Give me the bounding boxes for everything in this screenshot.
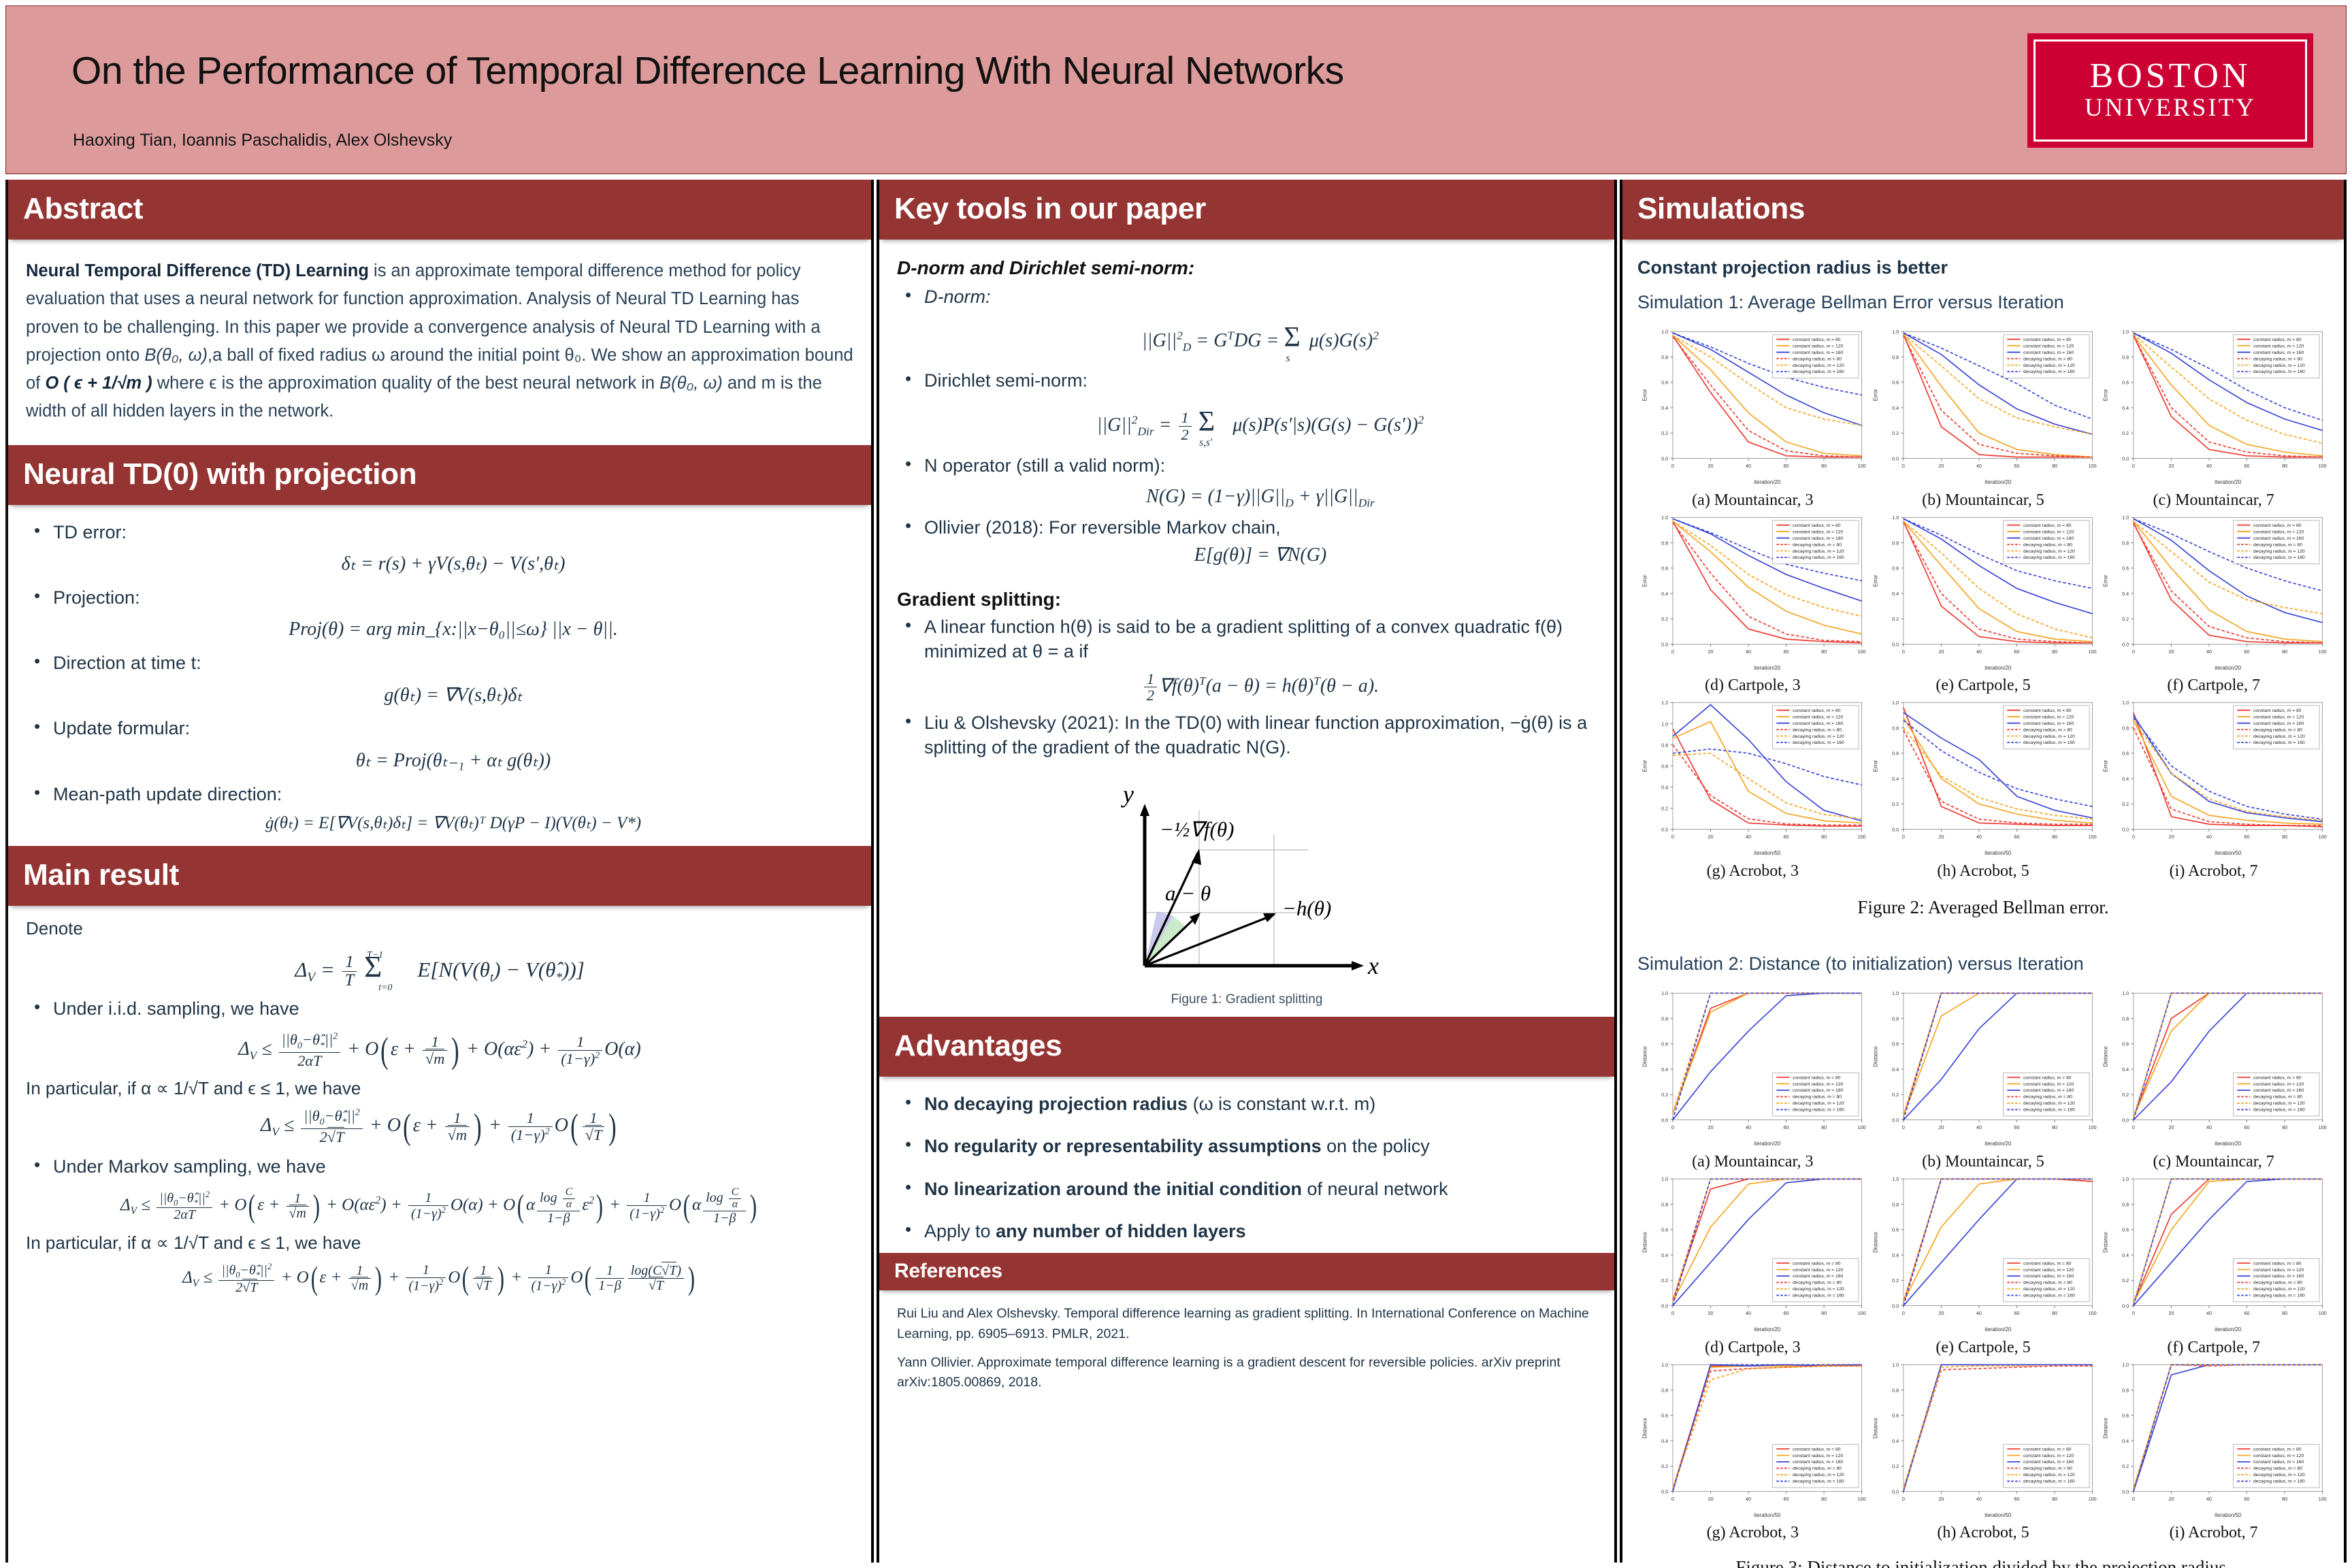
svg-text:0.4: 0.4 <box>2122 405 2129 411</box>
svg-text:80: 80 <box>2052 463 2057 469</box>
svg-text:iteration/20: iteration/20 <box>2215 479 2242 485</box>
simulation-chart: 0.00.20.40.60.81.0020406080100iteration/… <box>1868 324 2099 489</box>
svg-text:0.4: 0.4 <box>2122 1066 2129 1073</box>
svg-text:100: 100 <box>2319 834 2327 840</box>
svg-text:decaying radius, m = 160: decaying radius, m = 160 <box>2023 1479 2075 1484</box>
svg-text:0: 0 <box>1671 1310 1674 1316</box>
svg-text:0.8: 0.8 <box>1892 725 1899 732</box>
d-norm-label: D-norm: <box>924 287 991 307</box>
ollivier-equation: E[g(θ)] = ∇N(G) <box>924 542 1597 568</box>
svg-text:0.2: 0.2 <box>1661 1277 1668 1284</box>
axis-label-x: x <box>1367 952 1379 979</box>
svg-text:decaying radius, m = 120: decaying radius, m = 120 <box>1793 1473 1844 1477</box>
svg-text:0.6: 0.6 <box>1661 764 1668 770</box>
svg-text:80: 80 <box>1821 1310 1827 1316</box>
svg-text:constant radius, m = 80: constant radius, m = 80 <box>2253 708 2302 713</box>
chart-cell: 0.00.20.40.60.81.0020406080100iteration/… <box>1637 1171 1868 1357</box>
svg-text:constant radius, m = 120: constant radius, m = 120 <box>2023 344 2074 348</box>
svg-text:constant radius, m = 160: constant radius, m = 160 <box>2023 721 2074 726</box>
svg-text:60: 60 <box>2244 1310 2250 1316</box>
projection-label: Projection: <box>53 587 140 608</box>
svg-text:Distance: Distance <box>1642 1231 1648 1252</box>
svg-text:iteration/20: iteration/20 <box>1754 1141 1781 1147</box>
svg-text:Error: Error <box>2103 574 2109 587</box>
simulation-chart: 0.00.20.40.60.81.0020406080100iteration/… <box>1868 1171 2099 1337</box>
reference-item: Rui Liu and Alex Olshevsky. Temporal dif… <box>897 1304 1597 1344</box>
list-item: Under i.i.d. sampling, we have <box>26 996 853 1021</box>
svg-text:constant radius, m = 80: constant radius, m = 80 <box>1793 1261 1841 1266</box>
list-item: TD error: δₜ = r(s) + γV(s,θₜ) − V(s′,θₜ… <box>26 520 853 577</box>
svg-text:1.0: 1.0 <box>1892 1362 1899 1368</box>
svg-text:iteration/20: iteration/20 <box>2215 1141 2242 1147</box>
svg-text:constant radius, m = 160: constant radius, m = 160 <box>1793 1088 1844 1093</box>
svg-text:20: 20 <box>1938 834 1944 840</box>
svg-text:40: 40 <box>1976 463 1982 469</box>
simulations-body: Constant projection radius is better Sim… <box>1622 240 2344 1568</box>
svg-text:60: 60 <box>1784 649 1789 655</box>
svg-text:1.0: 1.0 <box>1892 329 1899 335</box>
svg-text:iteration/50: iteration/50 <box>1984 850 2012 856</box>
svg-text:60: 60 <box>1784 1496 1789 1502</box>
svg-text:constant radius, m = 160: constant radius, m = 160 <box>2023 536 2074 541</box>
ollivier-label: Ollivier (2018): For reversible Markov c… <box>924 517 1281 538</box>
svg-text:0.2: 0.2 <box>1661 616 1668 622</box>
svg-text:iteration/20: iteration/20 <box>2215 1326 2242 1333</box>
svg-text:constant radius, m = 120: constant radius, m = 120 <box>1793 715 1844 720</box>
chart-cell: 0.00.20.40.60.81.0020406080100iteration/… <box>2098 1171 2329 1357</box>
svg-text:0: 0 <box>2132 1124 2135 1130</box>
figure-3-grid: 0.00.20.40.60.81.0020406080100iteration/… <box>1637 985 2329 1542</box>
svg-text:decaying radius, m = 160: decaying radius, m = 160 <box>1793 1293 1844 1298</box>
svg-text:40: 40 <box>2206 649 2212 655</box>
svg-text:Error: Error <box>1642 574 1648 587</box>
iid-sampling-label: Under i.i.d. sampling, we have <box>53 998 299 1019</box>
list-item: Update formular: θₜ = Proj(θₜ₋₁ + αₜ g(θ… <box>26 716 853 773</box>
chart-cell: 0.00.20.40.60.81.0020406080100iteration/… <box>1868 1171 2099 1357</box>
subheading-d-norm: D-norm and Dirichlet semi-norm: <box>897 257 1597 279</box>
svg-text:decaying radius, m = 80: decaying radius, m = 80 <box>2253 728 2302 733</box>
dirichlet-equation: ||G||2Dir = 12 Σs,s′ μ(s)P(s′|s)(G(s) − … <box>924 403 1597 443</box>
abstract-paragraph: Neural Temporal Difference (TD) Learning… <box>26 257 853 426</box>
svg-text:1.0: 1.0 <box>1661 1176 1668 1182</box>
svg-text:constant radius, m = 160: constant radius, m = 160 <box>1793 536 1844 541</box>
svg-text:decaying radius, m = 80: decaying radius, m = 80 <box>2023 1281 2072 1286</box>
svg-text:80: 80 <box>2052 1124 2057 1130</box>
svg-text:80: 80 <box>1821 649 1827 655</box>
list-item: Projection: Proj(θ) = arg min_{x:||x−θ₀|… <box>26 585 853 642</box>
svg-text:0.6: 0.6 <box>1661 380 1668 386</box>
svg-text:constant radius, m = 120: constant radius, m = 120 <box>1793 529 1844 534</box>
svg-text:0.8: 0.8 <box>1661 354 1668 360</box>
chart-cell: 0.00.20.40.60.81.0020406080100iteration/… <box>1637 985 1868 1171</box>
mean-path-label: Mean-path update direction: <box>53 784 282 804</box>
svg-text:decaying radius, m = 160: decaying radius, m = 160 <box>2253 1479 2305 1484</box>
svg-text:0.4: 0.4 <box>2122 1437 2129 1443</box>
n-operator-label: N operator (still a valid norm): <box>924 455 1165 476</box>
svg-text:0.6: 0.6 <box>1661 1412 1668 1418</box>
svg-text:0: 0 <box>2132 834 2135 840</box>
svg-text:20: 20 <box>2169 649 2174 655</box>
svg-text:0.6: 0.6 <box>1892 1412 1899 1418</box>
svg-text:0.0: 0.0 <box>1661 455 1668 461</box>
svg-text:constant radius, m = 120: constant radius, m = 120 <box>2253 1453 2304 1458</box>
list-item: A linear function h(θ) is said to be a g… <box>897 615 1597 704</box>
svg-text:constant radius, m = 160: constant radius, m = 160 <box>2023 1274 2074 1279</box>
svg-text:constant radius, m = 80: constant radius, m = 80 <box>2023 1261 2072 1266</box>
svg-text:decaying radius, m = 80: decaying radius, m = 80 <box>2023 357 2072 361</box>
simulation-chart: 0.00.20.40.60.81.0020406080100iteration/… <box>1637 1357 1868 1522</box>
svg-text:constant radius, m = 80: constant radius, m = 80 <box>2253 523 2302 528</box>
svg-text:0.2: 0.2 <box>2122 802 2129 808</box>
axis-label-y: y <box>1121 781 1134 808</box>
svg-text:Distance: Distance <box>1872 1046 1878 1067</box>
svg-text:0.8: 0.8 <box>2122 1201 2129 1207</box>
chart-cell: 0.00.20.40.60.81.0020406080100iteration/… <box>1868 985 2099 1171</box>
svg-text:80: 80 <box>2282 1310 2287 1316</box>
svg-text:Distance: Distance <box>2103 1231 2109 1252</box>
boston-university-logo: BOSTON UNIVERSITY <box>2027 33 2313 148</box>
svg-text:Distance: Distance <box>1642 1417 1648 1438</box>
svg-text:constant radius, m = 80: constant radius, m = 80 <box>2023 1447 2072 1452</box>
svg-text:0.0: 0.0 <box>1892 1117 1899 1124</box>
denote-label: Denote <box>26 918 853 939</box>
svg-text:decaying radius, m = 160: decaying radius, m = 160 <box>2023 1108 2075 1113</box>
svg-text:constant radius, m = 80: constant radius, m = 80 <box>1793 708 1841 713</box>
svg-text:100: 100 <box>2319 1124 2327 1130</box>
svg-text:0.8: 0.8 <box>2122 725 2129 732</box>
direction-label: Direction at time t: <box>53 653 201 673</box>
svg-text:Error: Error <box>1872 574 1878 587</box>
svg-text:constant radius, m = 160: constant radius, m = 160 <box>2253 536 2304 541</box>
svg-text:0.8: 0.8 <box>1661 742 1668 749</box>
simulation-chart: 0.00.20.40.60.81.0020406080100iteration/… <box>2098 985 2329 1151</box>
svg-text:0.8: 0.8 <box>1661 1201 1668 1207</box>
list-item: Dirichlet semi-norm: ||G||2Dir = 12 Σs,s… <box>897 368 1597 442</box>
svg-text:0.4: 0.4 <box>1661 1066 1668 1073</box>
svg-text:60: 60 <box>1784 1310 1789 1316</box>
svg-text:iteration/50: iteration/50 <box>1754 850 1781 856</box>
advantages-list: No decaying projection radius (ω is cons… <box>897 1092 1597 1244</box>
section-header-neural-td: Neural TD(0) with projection <box>8 445 871 505</box>
svg-text:80: 80 <box>2282 1496 2287 1502</box>
list-item: D-norm: ||G||2D = GTDG = Σs μ(s)G(s)2 <box>897 284 1597 357</box>
svg-text:1.0: 1.0 <box>2122 1176 2129 1182</box>
chart-caption: (i) Acrobot, 7 <box>2098 1524 2329 1542</box>
svg-text:80: 80 <box>2052 834 2057 840</box>
svg-text:decaying radius, m = 80: decaying radius, m = 80 <box>1793 542 1842 547</box>
svg-text:Distance: Distance <box>2103 1046 2109 1067</box>
chart-caption: (h) Acrobot, 5 <box>1868 1524 2099 1542</box>
svg-text:0.6: 0.6 <box>2122 751 2129 757</box>
svg-text:constant radius, m = 80: constant radius, m = 80 <box>1793 1447 1841 1452</box>
svg-text:40: 40 <box>2206 1496 2212 1502</box>
svg-text:constant radius, m = 120: constant radius, m = 120 <box>2253 715 2304 720</box>
svg-text:1.0: 1.0 <box>1892 990 1899 996</box>
svg-text:0: 0 <box>1902 463 1905 469</box>
advantage-1-bold: No decaying projection radius <box>924 1094 1188 1114</box>
iid-bound-equation: ΔV ≤ ||θ0−θ̂*||22αT + O(ε + 1√m) + O(αε2… <box>26 1030 853 1071</box>
update-equation: θₜ = Proj(θₜ₋₁ + αₜ g(θₜ)) <box>53 748 853 774</box>
svg-text:0.6: 0.6 <box>2122 380 2129 386</box>
svg-text:0.4: 0.4 <box>1892 405 1899 411</box>
svg-text:0.2: 0.2 <box>2122 1463 2129 1469</box>
svg-text:decaying radius, m = 160: decaying radius, m = 160 <box>1793 370 1844 374</box>
simulation-chart: 0.00.20.40.60.81.0020406080100iteration/… <box>1637 1171 1868 1337</box>
svg-text:1.0: 1.0 <box>1661 990 1668 996</box>
svg-text:40: 40 <box>1976 1310 1982 1316</box>
chart-cell: 0.00.20.40.60.81.0020406080100iteration/… <box>1637 510 1868 696</box>
reference-item: Yann Ollivier. Approximate temporal diff… <box>897 1353 1597 1393</box>
svg-text:iteration/50: iteration/50 <box>1984 1512 2012 1518</box>
svg-text:decaying radius, m = 160: decaying radius, m = 160 <box>2023 741 2075 746</box>
svg-text:1.0: 1.0 <box>1892 514 1899 521</box>
svg-text:constant radius, m = 120: constant radius, m = 120 <box>2253 1082 2304 1087</box>
svg-text:20: 20 <box>2169 834 2174 840</box>
svg-text:constant radius, m = 120: constant radius, m = 120 <box>2023 1453 2074 1458</box>
chart-caption: (c) Mountaincar, 7 <box>2098 491 2329 510</box>
svg-text:0.0: 0.0 <box>2122 1488 2129 1494</box>
svg-text:0.6: 0.6 <box>2122 1041 2129 1047</box>
svg-text:80: 80 <box>1821 834 1827 840</box>
svg-text:constant radius, m = 120: constant radius, m = 120 <box>1793 1082 1844 1087</box>
svg-text:0.6: 0.6 <box>2122 1227 2129 1233</box>
svg-text:0.4: 0.4 <box>1661 405 1668 411</box>
svg-text:0.2: 0.2 <box>1892 802 1899 808</box>
svg-text:60: 60 <box>2244 1124 2250 1130</box>
svg-text:80: 80 <box>2052 649 2057 655</box>
svg-text:0: 0 <box>1671 1124 1674 1130</box>
abstract-ball-2: B(θ₀, ω) <box>659 374 723 393</box>
svg-text:80: 80 <box>2052 1496 2057 1502</box>
svg-text:100: 100 <box>2088 463 2096 469</box>
advantage-4-lead: Apply to <box>924 1221 991 1241</box>
update-label: Update formular: <box>53 718 190 738</box>
title-banner: On the Performance of Temporal Differenc… <box>5 5 2347 174</box>
chart-caption: (e) Cartpole, 5 <box>1868 1339 2099 1357</box>
list-item: N operator (still a valid norm): N(G) = … <box>897 453 1597 510</box>
svg-text:Error: Error <box>2103 389 2109 401</box>
svg-text:80: 80 <box>2282 834 2287 840</box>
section-header-simulations: Simulations <box>1622 180 2344 240</box>
svg-text:100: 100 <box>2088 1496 2096 1502</box>
main-result-body: Denote ΔV = 1T ΣT−1t=0 E[N(V(θt) − V(θ̂*… <box>8 906 871 1297</box>
chart-caption: (d) Cartpole, 3 <box>1637 676 1868 695</box>
svg-text:iteration/20: iteration/20 <box>1984 1326 2012 1333</box>
list-item: No linearization around the initial cond… <box>897 1177 1597 1201</box>
svg-text:constant radius, m = 80: constant radius, m = 80 <box>1793 1075 1841 1080</box>
svg-text:constant radius, m = 160: constant radius, m = 160 <box>2023 1460 2074 1465</box>
svg-text:decaying radius, m = 160: decaying radius, m = 160 <box>2253 555 2305 560</box>
svg-text:0.0: 0.0 <box>2122 455 2129 461</box>
svg-text:0.0: 0.0 <box>2122 1303 2129 1309</box>
svg-text:40: 40 <box>1976 834 1982 840</box>
simulation-2-label: Simulation 2: Distance (to initializatio… <box>1637 953 2329 975</box>
markov-bound-equation: ΔV ≤ ||θ0−θ̂*||22αT + O(ε + 1√m) + O(αε2… <box>26 1187 853 1226</box>
svg-text:0.8: 0.8 <box>2122 354 2129 360</box>
svg-text:0.8: 0.8 <box>2122 1387 2129 1393</box>
svg-text:60: 60 <box>2014 1310 2019 1316</box>
neural-td-list: TD error: δₜ = r(s) + γV(s,θₜ) − V(s′,θₜ… <box>26 520 853 835</box>
svg-text:constant radius, m = 160: constant radius, m = 160 <box>2253 721 2304 726</box>
svg-text:0: 0 <box>1671 463 1674 469</box>
key-tools-list: D-norm: ||G||2D = GTDG = Σs μ(s)G(s)2 Di… <box>897 284 1597 568</box>
svg-text:100: 100 <box>2088 834 2096 840</box>
svg-text:iteration/20: iteration/20 <box>1984 479 2012 485</box>
list-item: Mean-path update direction: ġ(θₜ) = E[∇V… <box>26 782 853 835</box>
td-error-equation: δₜ = r(s) + γV(s,θₜ) − V(s′,θₜ) <box>53 551 853 577</box>
svg-text:60: 60 <box>2244 1496 2250 1502</box>
svg-text:Error: Error <box>1872 760 1878 772</box>
svg-text:0: 0 <box>1902 1124 1905 1130</box>
svg-text:decaying radius, m = 120: decaying radius, m = 120 <box>2023 1287 2075 1292</box>
svg-text:100: 100 <box>1858 1496 1866 1502</box>
simulation-chart: 0.00.20.40.60.81.0020406080100iteration/… <box>2098 695 2329 860</box>
svg-text:0.2: 0.2 <box>2122 616 2129 622</box>
svg-text:20: 20 <box>1708 649 1713 655</box>
svg-text:40: 40 <box>2206 1310 2212 1316</box>
svg-text:20: 20 <box>2169 1496 2174 1502</box>
page-title: On the Performance of Temporal Differenc… <box>71 48 1344 93</box>
svg-text:decaying radius, m = 80: decaying radius, m = 80 <box>1793 1466 1842 1471</box>
svg-text:20: 20 <box>1938 463 1944 469</box>
svg-text:decaying radius, m = 160: decaying radius, m = 160 <box>2023 1293 2075 1298</box>
td-error-label: TD error: <box>53 522 127 542</box>
svg-text:0.4: 0.4 <box>1661 1437 1668 1443</box>
svg-text:Distance: Distance <box>2103 1417 2109 1438</box>
svg-text:0.2: 0.2 <box>2122 1092 2129 1098</box>
list-item: Liu & Olshevsky (2021): In the TD(0) wit… <box>897 710 1597 760</box>
iid-simplified-equation: ΔV ≤ ||θ0−θ̂*||22√T + O(ε + 1√m) + 1(1−γ… <box>26 1106 853 1147</box>
chart-cell: 0.00.20.40.60.81.0020406080100iteration/… <box>2098 1357 2329 1543</box>
svg-text:iteration/50: iteration/50 <box>2215 850 2242 856</box>
svg-text:100: 100 <box>1858 1310 1866 1316</box>
chart-caption: (e) Cartpole, 5 <box>1868 676 2099 695</box>
svg-text:0.2: 0.2 <box>1661 430 1668 436</box>
svg-text:0: 0 <box>1902 1310 1905 1316</box>
svg-text:0.4: 0.4 <box>1661 1252 1668 1258</box>
svg-text:80: 80 <box>2052 1310 2057 1316</box>
svg-text:0.8: 0.8 <box>2122 1016 2129 1022</box>
markov-list: Under Markov sampling, we have <box>26 1154 853 1179</box>
column-left: Abstract Neural Temporal Difference (TD)… <box>5 180 874 1563</box>
svg-text:0.6: 0.6 <box>1892 751 1899 757</box>
svg-text:100: 100 <box>1858 834 1866 840</box>
chart-cell: 0.00.20.40.60.81.0020406080100iteration/… <box>1868 1357 2099 1543</box>
svg-text:constant radius, m = 80: constant radius, m = 80 <box>2253 1261 2302 1266</box>
svg-text:decaying radius, m = 120: decaying radius, m = 120 <box>2253 1101 2305 1106</box>
svg-text:0.0: 0.0 <box>1892 1303 1899 1309</box>
svg-text:60: 60 <box>2014 1496 2019 1502</box>
column-middle: Key tools in our paper D-norm and Dirich… <box>877 180 1617 1563</box>
markov-simplified-equation: ΔV ≤ ||θ0−θ̂*||22√T + O(ε + 1√m) + 1(1−γ… <box>26 1260 853 1297</box>
svg-text:60: 60 <box>2014 1124 2019 1130</box>
svg-text:iteration/50: iteration/50 <box>2215 1512 2242 1518</box>
figure-2-caption: Figure 2: Averaged Bellman error. <box>1637 897 2329 918</box>
svg-text:60: 60 <box>1784 463 1789 469</box>
svg-text:decaying radius, m = 120: decaying radius, m = 120 <box>1793 363 1844 368</box>
chart-cell: 0.00.20.40.60.81.0020406080100iteration/… <box>2098 985 2329 1171</box>
svg-text:constant radius, m = 160: constant radius, m = 160 <box>1793 1460 1844 1465</box>
n-operator-equation: N(G) = (1−γ)||G||D + γ||G||Dir <box>924 484 1597 511</box>
svg-text:constant radius, m = 120: constant radius, m = 120 <box>1793 1453 1844 1458</box>
svg-text:0.4: 0.4 <box>1892 1252 1899 1258</box>
svg-text:100: 100 <box>2088 649 2096 655</box>
svg-text:decaying radius, m = 160: decaying radius, m = 160 <box>2253 370 2305 374</box>
svg-text:20: 20 <box>1708 463 1713 469</box>
advantages-body: No decaying projection radius (ω is cons… <box>879 1077 1614 1244</box>
label-a-minus-theta: a − θ <box>1165 881 1211 905</box>
simulation-chart: 0.00.20.40.60.81.0020406080100iteration/… <box>1868 985 2099 1151</box>
chart-cell: 0.00.20.40.60.81.0020406080100iteration/… <box>2098 324 2329 510</box>
svg-text:0.6: 0.6 <box>1892 1041 1899 1047</box>
svg-text:40: 40 <box>1746 1310 1751 1316</box>
svg-text:20: 20 <box>1938 1124 1944 1130</box>
svg-text:0.6: 0.6 <box>2122 565 2129 571</box>
svg-text:constant radius, m = 160: constant radius, m = 160 <box>1793 1274 1844 1279</box>
svg-text:0: 0 <box>1902 649 1905 655</box>
advantage-1-rest: (ω is constant w.r.t. m) <box>1188 1094 1375 1114</box>
svg-text:20: 20 <box>1708 1310 1713 1316</box>
abstract-ball-1: B(θ₀, ω) <box>144 346 208 365</box>
svg-text:constant radius, m = 160: constant radius, m = 160 <box>2253 1088 2304 1093</box>
chart-cell: 0.00.20.40.60.81.0020406080100iteration/… <box>1868 324 2099 510</box>
section-header-key-tools: Key tools in our paper <box>879 180 1614 240</box>
svg-text:Distance: Distance <box>1642 1046 1648 1067</box>
chart-cell: 0.00.20.40.60.81.0020406080100iteration/… <box>1868 695 2099 881</box>
svg-text:1.0: 1.0 <box>1661 514 1668 521</box>
svg-text:0: 0 <box>1902 1496 1905 1502</box>
svg-text:0.0: 0.0 <box>1892 1488 1899 1494</box>
svg-text:0.0: 0.0 <box>2122 1117 2129 1124</box>
simulation-claim: Constant projection radius is better <box>1637 257 2329 278</box>
svg-text:100: 100 <box>2319 1496 2327 1502</box>
simulation-chart: 0.00.20.40.60.81.0020406080100iteration/… <box>1637 510 1868 675</box>
svg-text:constant radius, m = 80: constant radius, m = 80 <box>2023 338 2072 342</box>
svg-text:constant radius, m = 120: constant radius, m = 120 <box>2253 1268 2304 1273</box>
svg-text:40: 40 <box>2206 834 2212 840</box>
svg-text:constant radius, m = 80: constant radius, m = 80 <box>1793 523 1841 528</box>
projection-equation: Proj(θ) = arg min_{x:||x−θ₀||≤ω} ||x − θ… <box>53 617 853 642</box>
svg-text:80: 80 <box>2282 1124 2287 1130</box>
svg-text:decaying radius, m = 80: decaying radius, m = 80 <box>1793 728 1842 733</box>
gs-equation: 12∇f(θ)T(a − θ) = h(θ)T(θ − a). <box>924 671 1597 704</box>
chart-caption: (i) Acrobot, 7 <box>2098 862 2329 881</box>
author-list: Haoxing Tian, Ioannis Paschalidis, Alex … <box>73 131 452 150</box>
svg-text:constant radius, m = 80: constant radius, m = 80 <box>2023 708 2072 713</box>
svg-text:0.6: 0.6 <box>1892 1227 1899 1233</box>
abstract-body: Neural Temporal Difference (TD) Learning… <box>8 240 871 426</box>
svg-text:iteration/20: iteration/20 <box>1984 665 2012 671</box>
svg-text:40: 40 <box>1976 1496 1982 1502</box>
simulation-chart: 0.00.20.40.60.81.0020406080100iteration/… <box>1637 324 1868 489</box>
simulation-chart: 0.00.20.40.60.81.0020406080100iteration/… <box>1868 510 2099 675</box>
svg-text:Distance: Distance <box>1872 1417 1878 1438</box>
chart-caption: (b) Mountaincar, 5 <box>1868 491 2099 510</box>
svg-text:Error: Error <box>1642 760 1648 772</box>
svg-text:constant radius, m = 80: constant radius, m = 80 <box>1793 338 1841 342</box>
svg-text:40: 40 <box>1976 649 1982 655</box>
svg-text:0: 0 <box>1671 649 1674 655</box>
svg-text:0: 0 <box>1671 834 1674 840</box>
chart-caption: (a) Mountaincar, 3 <box>1637 491 1868 510</box>
dirichlet-label: Dirichlet semi-norm: <box>924 370 1088 391</box>
simulation-1-label: Simulation 1: Average Bellman Error vers… <box>1637 292 2329 313</box>
svg-text:decaying radius, m = 80: decaying radius, m = 80 <box>1793 1095 1842 1100</box>
key-tools-body: D-norm and Dirichlet semi-norm: D-norm: … <box>879 240 1614 1007</box>
svg-text:constant radius, m = 160: constant radius, m = 160 <box>2253 1274 2304 1279</box>
svg-text:1.0: 1.0 <box>1661 1362 1668 1368</box>
svg-text:0.8: 0.8 <box>1892 354 1899 360</box>
